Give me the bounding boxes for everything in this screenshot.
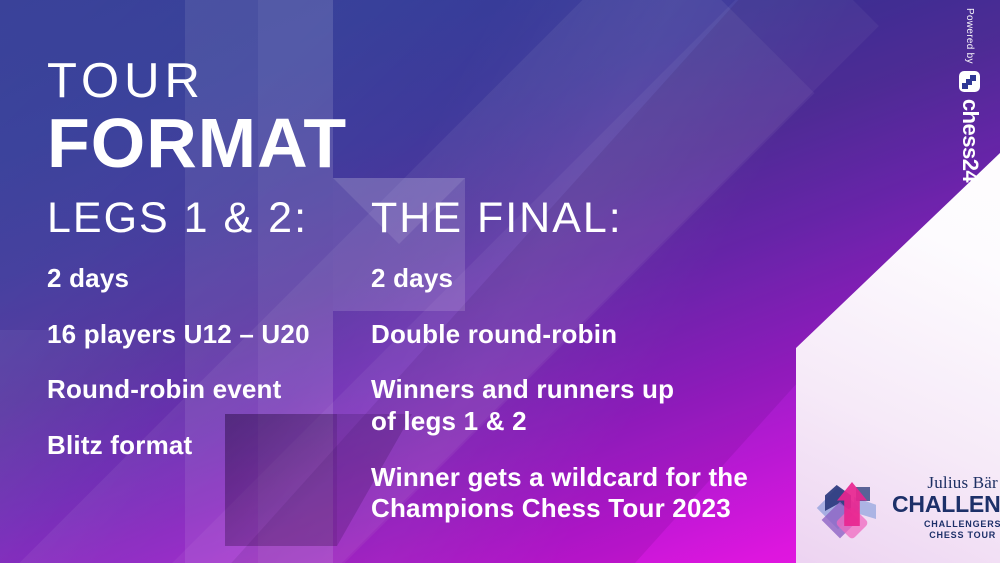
julius-baer-subtitle: CHALLENGERS CHESS TOUR	[924, 519, 1000, 542]
slide-canvas: TOUR FORMAT LEGS 1 & 2: 2 days 16 player…	[0, 0, 1000, 563]
chess24-badge: Powered by chess24	[940, 8, 1000, 208]
column-legs: LEGS 1 & 2: 2 days 16 players U12 – U20 …	[47, 196, 377, 486]
julius-baer-subtitle-line1: CHALLENGERS	[924, 519, 1000, 530]
julius-baer-product: CHALLENGE	[892, 493, 1000, 516]
title-line-tour: TOUR	[47, 57, 347, 106]
julius-baer-mark-icon	[820, 477, 882, 539]
list-item: Double round-robin	[371, 319, 771, 350]
list-item: Winner gets a wildcard for theChampions …	[371, 462, 771, 524]
column-final-list: 2 days Double round-robin Winners and ru…	[371, 263, 771, 524]
chess24-knight-icon	[960, 71, 981, 92]
list-item: Blitz format	[47, 430, 377, 461]
julius-baer-challengers-logo: Julius Bär CHALLENGE CHALLENGERS CHESS T…	[820, 472, 992, 544]
list-item: 2 days	[47, 263, 377, 294]
list-item: Round-robin event	[47, 374, 377, 405]
julius-baer-brand: Julius Bär	[927, 474, 997, 492]
powered-by-label: Powered by	[965, 8, 976, 64]
title-line-format: FORMAT	[47, 108, 347, 179]
julius-baer-subtitle-line2: CHESS TOUR	[924, 530, 1000, 541]
julius-baer-logo-text: Julius Bär CHALLENGE CHALLENGERS CHESS T…	[892, 474, 1000, 541]
list-item: Winners and runners upof legs 1 & 2	[371, 374, 771, 436]
chess24-wordmark: chess24	[957, 99, 983, 182]
column-final: THE FINAL: 2 days Double round-robin Win…	[371, 196, 771, 549]
list-item: 16 players U12 – U20	[47, 319, 377, 350]
list-item: 2 days	[371, 263, 771, 294]
column-legs-heading: LEGS 1 & 2:	[47, 196, 377, 241]
column-legs-list: 2 days 16 players U12 – U20 Round-robin …	[47, 263, 377, 461]
column-final-heading: THE FINAL:	[371, 196, 771, 241]
page-title: TOUR FORMAT	[47, 57, 347, 179]
